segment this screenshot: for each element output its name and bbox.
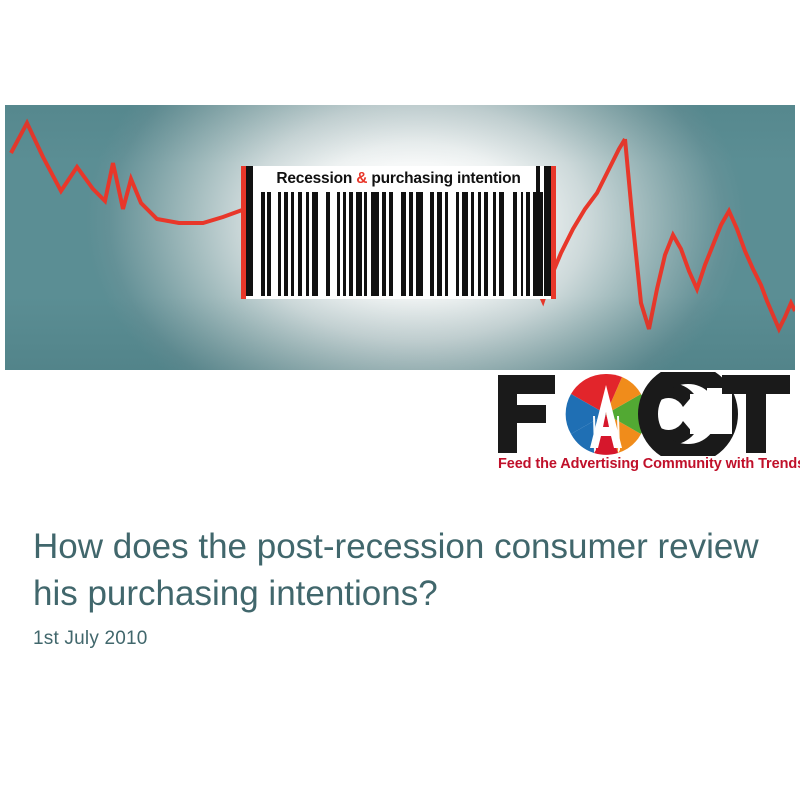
logo-letter-a-disc [566,374,647,455]
barcode-label-ampersand: & [356,170,367,187]
barcode-label: Recession & purchasing intention [246,170,551,188]
barcode-label-prefix: Recession [276,170,356,187]
fact-logo-mark [494,372,794,456]
page-title: How does the post-recession consumer rev… [33,524,763,617]
trendline-right [625,139,795,329]
fact-logo: Feed the Advertising Community with Tren… [494,372,794,478]
barcode-bars [250,192,547,296]
logo-letter-f [498,375,555,453]
barcode-label-suffix: purchasing intention [367,170,520,187]
logo-tagline: Feed the Advertising Community with Tren… [498,456,794,472]
barcode-graphic: Recession & purchasing intention [241,166,556,299]
slide-date: 1st July 2010 [33,628,148,650]
